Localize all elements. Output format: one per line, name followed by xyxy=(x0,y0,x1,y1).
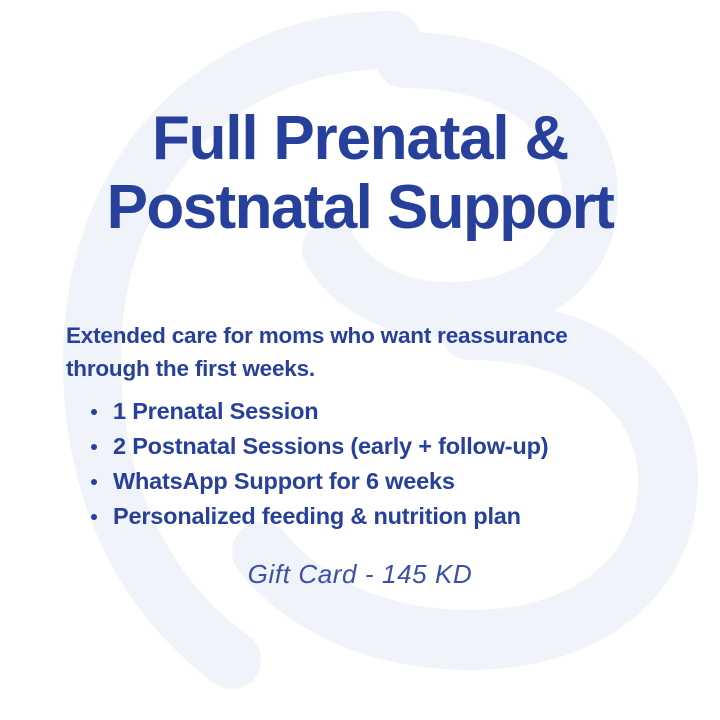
feature-label: 2 Postnatal Sessions (early + follow-up) xyxy=(113,433,548,459)
feature-label: Personalized feeding & nutrition plan xyxy=(113,503,521,529)
bullet-dot-icon xyxy=(91,444,97,450)
bullet-dot-icon xyxy=(91,409,97,415)
page-title: Full Prenatal & Postnatal Support xyxy=(0,104,720,242)
list-item: 1 Prenatal Session xyxy=(90,394,548,429)
bullet-dot-icon xyxy=(91,514,97,520)
feature-label: WhatsApp Support for 6 weeks xyxy=(113,468,455,494)
bullet-dot-icon xyxy=(91,479,97,485)
service-package-card: Full Prenatal & Postnatal Support Extend… xyxy=(0,0,720,720)
subtitle-line-2: through the first weeks. xyxy=(66,352,666,385)
list-item: Personalized feeding & nutrition plan xyxy=(90,499,548,534)
subtitle: Extended care for moms who want reassura… xyxy=(66,319,666,385)
subtitle-line-1: Extended care for moms who want reassura… xyxy=(66,319,666,352)
list-item: 2 Postnatal Sessions (early + follow-up) xyxy=(90,429,548,464)
page-title-line-2: Postnatal Support xyxy=(0,173,720,242)
page-title-line-1: Full Prenatal & xyxy=(0,104,720,173)
feature-label: 1 Prenatal Session xyxy=(113,398,318,424)
card-content: Full Prenatal & Postnatal Support Extend… xyxy=(0,0,720,720)
list-item: WhatsApp Support for 6 weeks xyxy=(90,464,548,499)
feature-list: 1 Prenatal Session 2 Postnatal Sessions … xyxy=(90,394,548,534)
price-label: Gift Card - 145 KD xyxy=(0,559,720,590)
